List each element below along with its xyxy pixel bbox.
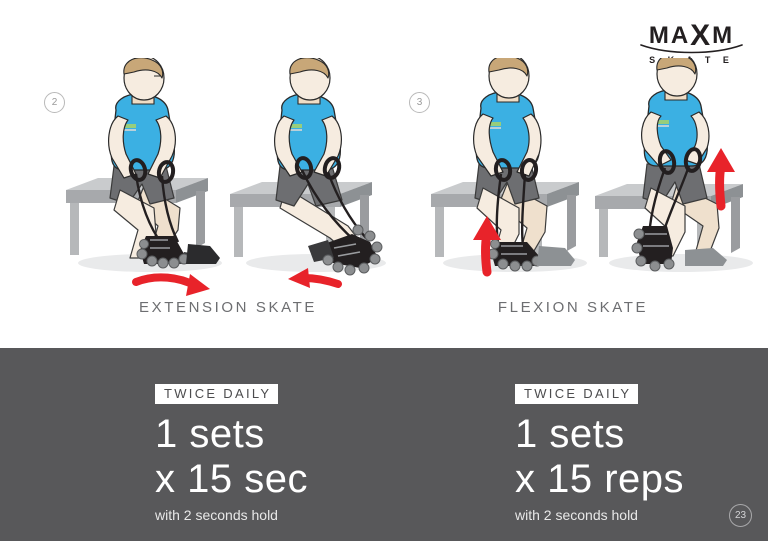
figure-flexion-start [423, 58, 603, 296]
dosage-panel: TWICE DAILY 1 sets x 15 sec with 2 secon… [0, 348, 768, 541]
logo-text-x: X [690, 19, 712, 52]
dosage-block-flexion: TWICE DAILY 1 sets x 15 reps with 2 seco… [515, 384, 684, 523]
body [109, 58, 180, 258]
logo-wordmark: MAXM [639, 22, 744, 48]
body [275, 58, 362, 254]
sets-line-right: 1 sets [515, 414, 684, 455]
illustration-area: MAXM S K A T E 2 3 [0, 0, 768, 348]
frequency-badge-left: TWICE DAILY [155, 384, 278, 404]
figure-flexion-end [593, 58, 768, 296]
dosage-block-extension: TWICE DAILY 1 sets x 15 sec with 2 secon… [155, 384, 308, 523]
logo-text-ma: MA [649, 22, 690, 49]
amount-line-right: x 15 reps [515, 459, 684, 500]
page-number-badge: 23 [729, 504, 752, 527]
figure-extension-start [58, 58, 238, 296]
amount-line-left: x 15 sec [155, 459, 308, 500]
red-curved-arrow [136, 274, 210, 296]
caption-flexion-skate: FLEXION SKATE [383, 299, 763, 316]
figure-extension-end [228, 58, 408, 296]
exercise-sheet-page: MAXM S K A T E 2 3 [0, 0, 768, 541]
sets-line-left: 1 sets [155, 414, 308, 455]
frequency-badge-right: TWICE DAILY [515, 384, 638, 404]
hold-note-right: with 2 seconds hold [515, 507, 684, 523]
logo-text-m: M [712, 22, 734, 49]
hold-note-left: with 2 seconds hold [155, 507, 308, 523]
caption-extension-skate: EXTENSION SKATE [38, 299, 418, 316]
